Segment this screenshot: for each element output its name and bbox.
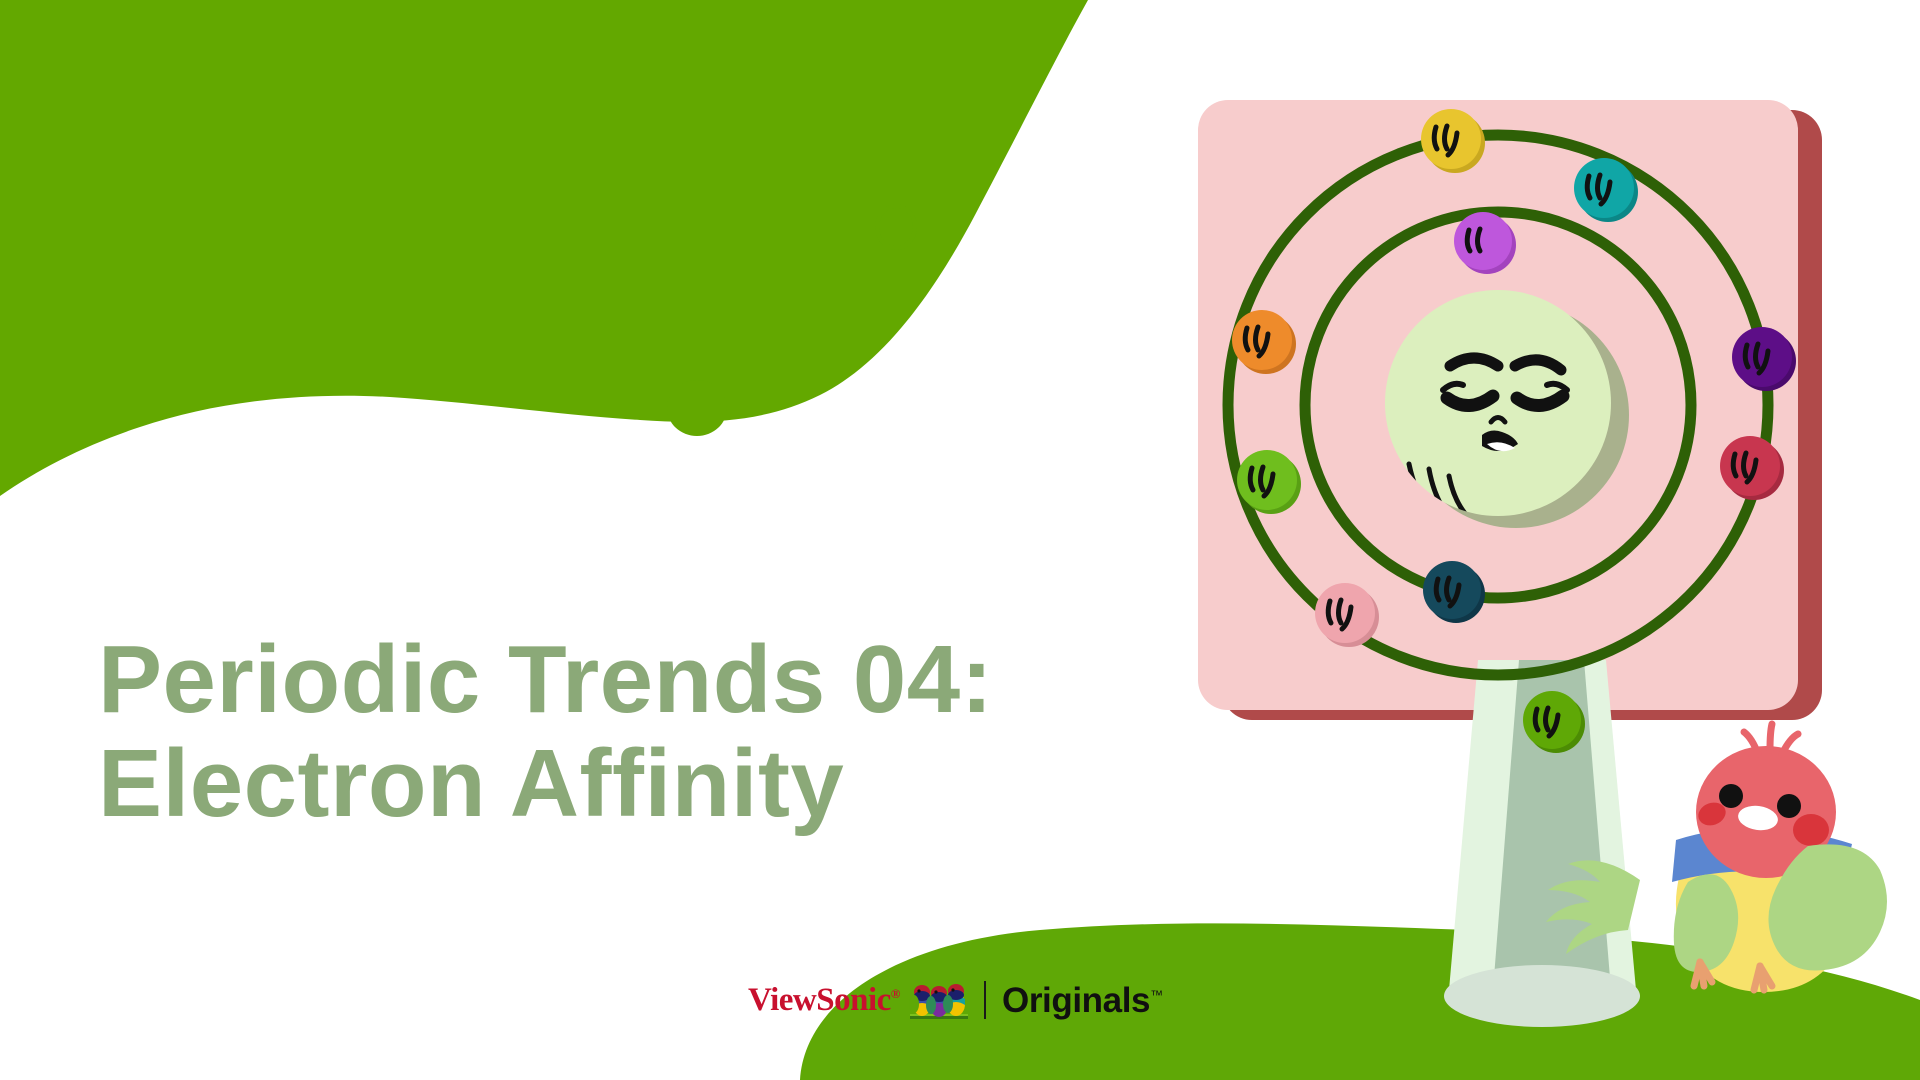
viewsonic-wordmark: ViewSonic® — [748, 984, 900, 1017]
title-line-1: Periodic Trends 04: — [98, 628, 1158, 732]
slide-canvas: Periodic Trends 04: Electron Affinity Vi… — [0, 0, 1920, 1080]
brand-logo-bar: ViewSonic® — [748, 977, 1163, 1023]
trademark-mark-icon: ™ — [1150, 987, 1163, 1002]
originals-wordmark: Originals™ — [1002, 983, 1163, 1018]
logo-divider — [984, 981, 986, 1019]
gouldian-finch-character — [0, 0, 1920, 1080]
registered-mark-icon: ® — [891, 986, 900, 1001]
bird-eye-right — [1777, 794, 1801, 818]
bird-cheek-right — [1793, 814, 1829, 846]
originals-wordmark-text: Originals — [1002, 981, 1150, 1020]
title-line-2: Electron Affinity — [98, 732, 1158, 836]
gouldian-finches-icon — [908, 978, 970, 1022]
bird-eye-left — [1719, 784, 1743, 808]
viewsonic-wordmark-text: ViewSonic — [748, 982, 891, 1018]
bird-tail — [1546, 860, 1640, 954]
page-title: Periodic Trends 04: Electron Affinity — [98, 628, 1158, 835]
